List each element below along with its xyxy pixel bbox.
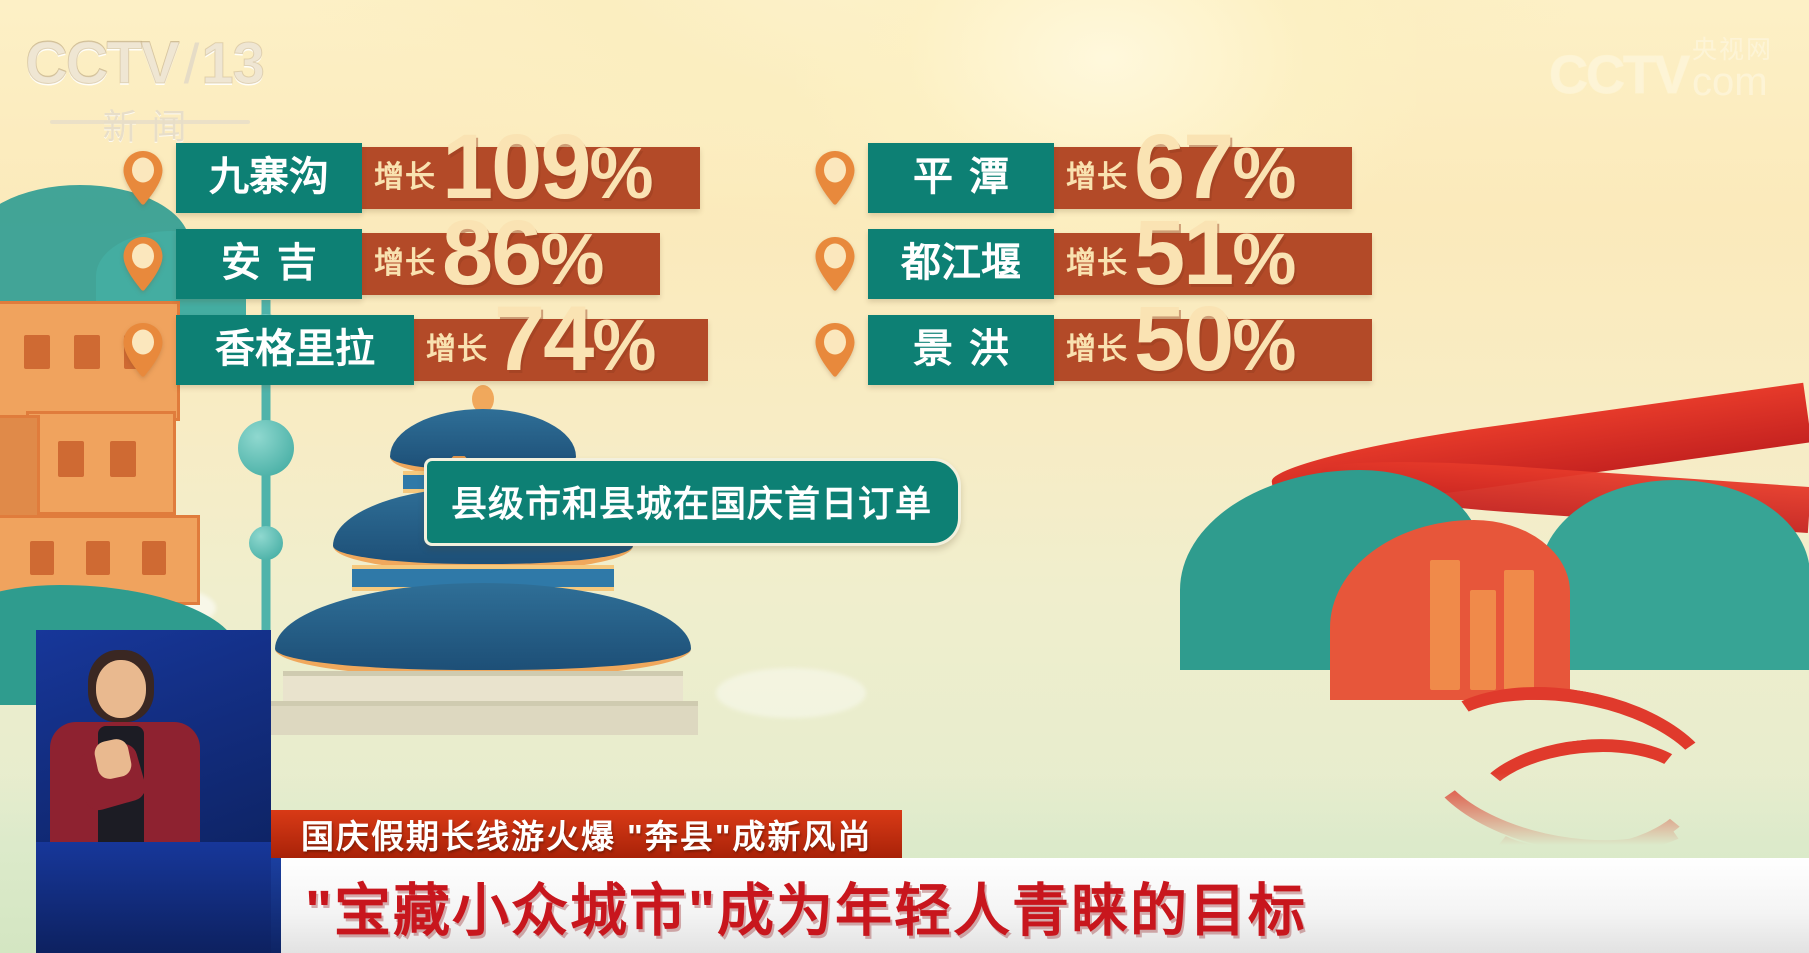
location-pin	[120, 235, 166, 293]
cctv-logo-text: CCTV	[25, 34, 178, 93]
caption-text: 县级市和县城在国庆首日订单	[424, 458, 961, 546]
cctv-logo-slash: /	[184, 31, 200, 96]
growth-value-bar: 增长67%	[1052, 147, 1352, 209]
data-row: 九寨沟增长109%	[120, 142, 708, 214]
location-pin-icon	[812, 235, 858, 293]
location-pin-icon	[812, 149, 858, 207]
location-pin-icon	[120, 321, 166, 379]
topic-banner-text: 国庆假期长线游火爆 "奔县"成新风尚	[301, 810, 872, 858]
temple-of-heaven-illustration	[268, 405, 698, 735]
location-name-chip: 香格里拉	[176, 315, 414, 385]
growth-label: 增长	[426, 335, 488, 365]
data-row: 都江堰增长51%	[812, 228, 1372, 300]
location-pin-icon	[120, 149, 166, 207]
location-name-chip: 平潭	[868, 143, 1054, 213]
growth-value-bar: 增长51%	[1052, 233, 1372, 295]
location-name-chip: 都江堰	[868, 229, 1054, 299]
growth-label: 增长	[374, 249, 436, 279]
location-pin	[812, 235, 858, 293]
headline-bar-left-edge	[271, 858, 281, 953]
growth-percentage: 74%	[494, 302, 654, 377]
building-illustration	[1430, 560, 1460, 690]
sign-language-interpreter-video	[36, 630, 271, 842]
headline-bar: "宝藏小众城市"成为年轻人青睐的目标	[271, 858, 1809, 953]
data-row: 景洪增长50%	[812, 314, 1372, 386]
location-pin-icon	[120, 235, 166, 293]
growth-value-bar: 增长86%	[360, 233, 660, 295]
percent-sign: %	[590, 134, 652, 214]
percent-sign: %	[1232, 306, 1294, 386]
building-illustration	[1504, 570, 1534, 690]
building-illustration	[1470, 590, 1496, 690]
growth-percentage: 67%	[1134, 130, 1294, 205]
growth-percentage: 50%	[1134, 302, 1294, 377]
broadcast-screen: CCTV / 13 新闻 CCTV 央视网 com 九寨沟增长109%安吉增长8…	[0, 0, 1809, 953]
cctv-com-watermark: CCTV 央视网 com	[1549, 38, 1773, 101]
green-hill-illustration	[1540, 480, 1809, 670]
growth-label: 增长	[374, 163, 436, 193]
topic-banner: 国庆假期长线游火爆 "奔县"成新风尚	[271, 810, 902, 858]
cctv-channel-number: 13	[201, 30, 264, 97]
growth-label: 增长	[1066, 335, 1128, 365]
watermark-com-text: com	[1692, 63, 1773, 101]
location-pin	[120, 321, 166, 379]
location-pin	[812, 149, 858, 207]
cctv-logo-underline	[50, 120, 250, 124]
watermark-cctv-text: CCTV	[1549, 50, 1688, 101]
data-row: 安吉增长86%	[120, 228, 708, 300]
percent-sign: %	[1232, 134, 1294, 214]
signer-box-extension	[36, 842, 271, 953]
location-name-chip: 景洪	[868, 315, 1054, 385]
data-column-right: 平潭增长67%都江堰增长51%景洪增长50%	[812, 142, 1372, 400]
percent-sign: %	[592, 306, 654, 386]
growth-percentage: 51%	[1134, 216, 1294, 291]
location-pin-icon	[812, 321, 858, 379]
data-row: 香格里拉增长74%	[120, 314, 708, 386]
growth-percentage: 109%	[442, 130, 652, 205]
growth-value-bar: 增长50%	[1052, 319, 1372, 381]
data-column-left: 九寨沟增长109%安吉增长86%香格里拉增长74%	[120, 142, 708, 400]
location-name-chip: 九寨沟	[176, 143, 362, 213]
cctv-logo: CCTV / 13 新闻	[22, 34, 267, 146]
percent-sign: %	[1232, 220, 1294, 300]
location-pin	[812, 321, 858, 379]
location-pin	[120, 149, 166, 207]
data-row: 平潭增长67%	[812, 142, 1372, 214]
watermark-right-group: 央视网 com	[1692, 38, 1773, 101]
growth-value-bar: 增长109%	[360, 147, 700, 209]
growth-label: 增长	[1066, 163, 1128, 193]
interpreter-face	[96, 660, 146, 718]
cloud-decoration	[716, 668, 866, 718]
headline-text: "宝藏小众城市"成为年轻人青睐的目标	[305, 865, 1307, 947]
caption-container: 县级市和县城在国庆首日订单	[424, 458, 961, 546]
location-name-chip: 安吉	[176, 229, 362, 299]
cctv-logo-row: CCTV / 13	[25, 30, 264, 97]
growth-value-bar: 增长74%	[412, 319, 708, 381]
growth-label: 增长	[1066, 249, 1128, 279]
growth-percentage: 86%	[442, 216, 602, 291]
